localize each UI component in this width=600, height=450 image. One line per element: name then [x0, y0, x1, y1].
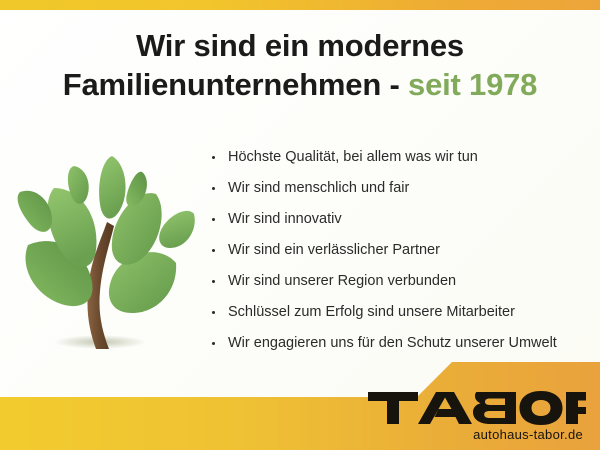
list-item-label: Wir sind innovativ: [228, 211, 342, 227]
bullet-dot-icon: [212, 342, 215, 345]
list-item: Schlüssel zum Erfolg sind unsere Mitarbe…: [210, 297, 590, 328]
bullet-dot-icon: [212, 218, 215, 221]
bullet-dot-icon: [212, 280, 215, 283]
list-item-label: Wir sind unserer Region verbunden: [228, 273, 456, 289]
list-item: Wir sind innovativ: [210, 204, 590, 235]
headline-line-2: Familienunternehmen - seit 1978: [0, 65, 600, 104]
benefits-list: Höchste Qualität, bei allem was wir tun …: [210, 142, 590, 359]
tabor-logotype-svg: [366, 390, 586, 426]
headline-line-1: Wir sind ein modernes: [0, 26, 600, 65]
list-item-label: Wir engagieren uns für den Schutz unsere…: [228, 335, 557, 351]
top-accent-bar: [0, 0, 600, 10]
headline-line-2-main: Familienunternehmen -: [63, 67, 408, 102]
tree-leaf-right-outer: [159, 211, 195, 248]
page-title: Wir sind ein modernes Familienunternehme…: [0, 26, 600, 104]
logo-wordmark: [366, 390, 586, 426]
headline-accent-year: seit 1978: [408, 67, 537, 102]
list-item-label: Wir sind ein verlässlicher Partner: [228, 242, 440, 258]
tree-leaf-top-center: [99, 156, 125, 219]
bullet-dot-icon: [212, 311, 215, 314]
list-item: Wir sind menschlich und fair: [210, 173, 590, 204]
footer-band: autohaus-tabor.de: [0, 360, 600, 450]
list-item: Wir engagieren uns für den Schutz unsere…: [210, 328, 590, 359]
tree-leaf-left-outer: [18, 191, 52, 232]
bullet-dot-icon: [212, 187, 215, 190]
bullet-dot-icon: [212, 156, 215, 159]
list-item: Wir sind ein verlässlicher Partner: [210, 235, 590, 266]
logo-website-url[interactable]: autohaus-tabor.de: [366, 427, 586, 442]
list-item: Wir sind unserer Region verbunden: [210, 266, 590, 297]
list-item-label: Wir sind menschlich und fair: [228, 180, 409, 196]
list-item-label: Schlüssel zum Erfolg sind unsere Mitarbe…: [228, 304, 515, 320]
list-item-label: Höchste Qualität, bei allem was wir tun: [228, 149, 478, 165]
list-item: Höchste Qualität, bei allem was wir tun: [210, 142, 590, 173]
brand-logo[interactable]: autohaus-tabor.de: [366, 390, 586, 442]
slide-canvas: Wir sind ein modernes Familienunternehme…: [0, 0, 600, 450]
tree-svg: [8, 150, 198, 385]
bullet-dot-icon: [212, 249, 215, 252]
tree-illustration: [8, 150, 198, 385]
